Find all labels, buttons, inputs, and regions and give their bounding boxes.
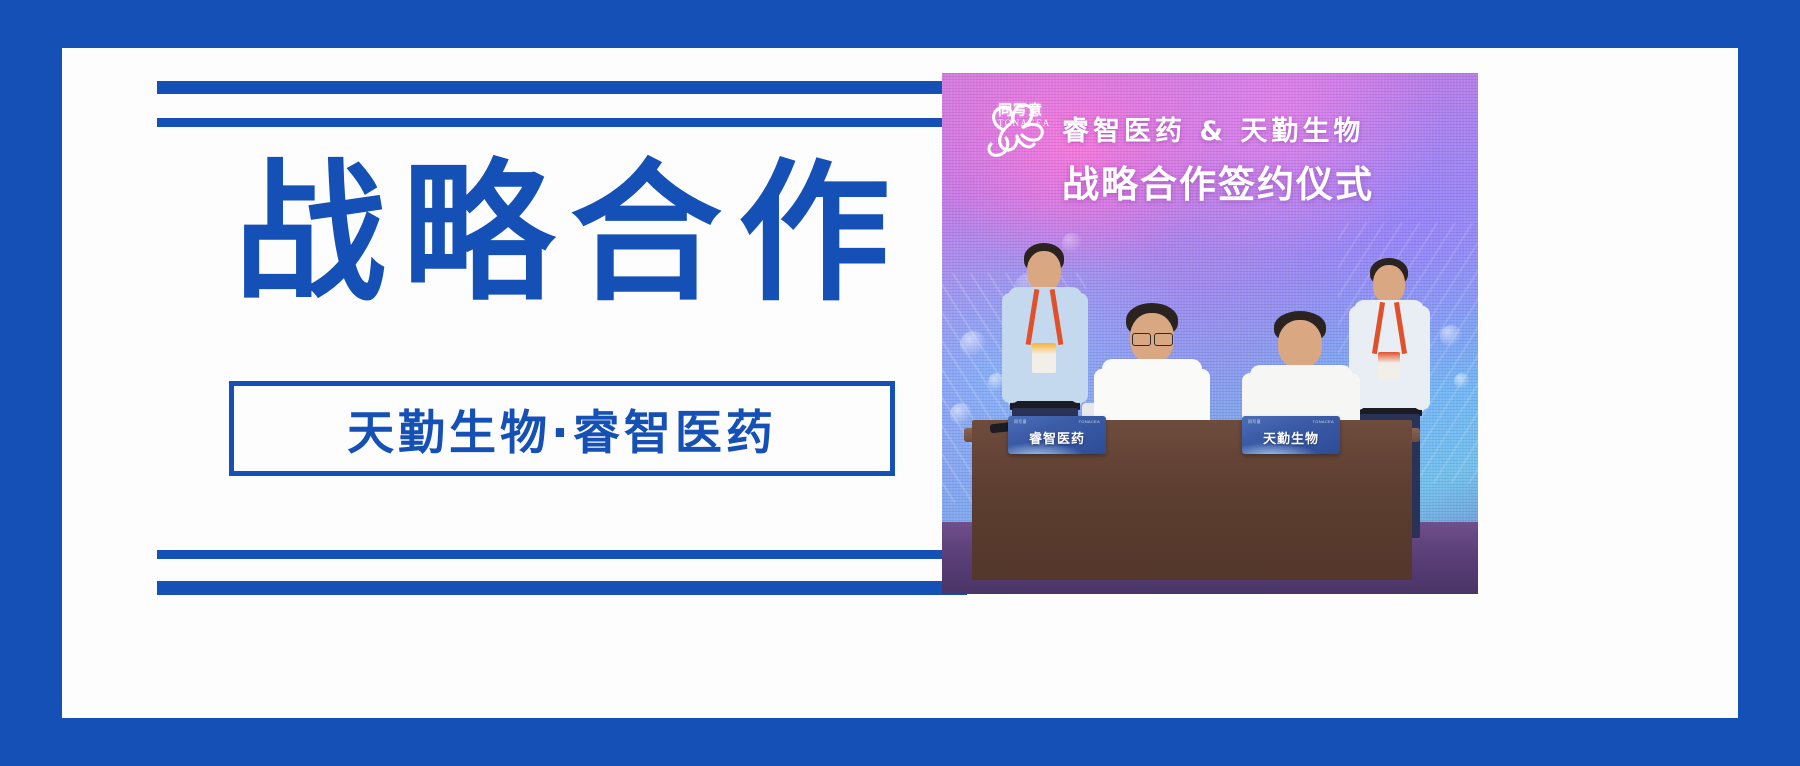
nameplate-mini-right: TONACEA bbox=[1313, 419, 1334, 424]
nameplate-mini-right: TONACEA bbox=[1079, 419, 1100, 424]
page-title: 战略合作 bbox=[157, 158, 967, 310]
left-text-column: 战略合作 天勤生物·睿智医药 bbox=[157, 48, 967, 718]
banner-line-2: 战略合作签约仪式 bbox=[1062, 154, 1478, 208]
banner-line-1: 睿智医药 & 天勤生物 bbox=[1062, 109, 1478, 148]
nameplate-mini-left: 同写意 bbox=[1014, 419, 1027, 425]
event-photo: 同写意 TONACEA 睿智医药 & 天勤生物 战略合作签约仪式 bbox=[942, 73, 1478, 594]
logo-english-name: TONACEA bbox=[998, 118, 1051, 128]
nameplate-mini-left: 同写意 bbox=[1248, 419, 1261, 425]
logo-chinese-name: 同写意 bbox=[998, 100, 1043, 120]
head bbox=[1027, 251, 1061, 291]
rule-bottom-thick bbox=[157, 581, 967, 595]
name-badge bbox=[1378, 352, 1400, 380]
bokeh-dot bbox=[960, 331, 986, 357]
poster-root: 战略合作 天勤生物·睿智医药 bbox=[0, 0, 1800, 766]
nameplate-label: 天勤生物 bbox=[1242, 428, 1340, 447]
nameplate-right: 同写意 TONACEA 天勤生物 bbox=[1242, 416, 1340, 454]
subtitle-box: 天勤生物·睿智医药 bbox=[229, 381, 895, 476]
nameplate-left: 同写意 TONACEA 睿智医药 bbox=[1008, 416, 1106, 454]
head bbox=[1373, 265, 1405, 303]
nameplate-label: 睿智医药 bbox=[1008, 428, 1106, 447]
led-banner-text: 睿智医药 & 天勤生物 战略合作签约仪式 bbox=[1062, 109, 1478, 208]
bokeh-dot bbox=[950, 403, 972, 425]
head bbox=[1278, 320, 1322, 368]
eyeglasses bbox=[1154, 333, 1173, 346]
poster-card: 战略合作 天勤生物·睿智医药 bbox=[62, 48, 1738, 718]
arm-right bbox=[1070, 293, 1088, 403]
subtitle-text: 天勤生物·睿智医药 bbox=[347, 394, 777, 463]
bokeh-dot bbox=[1440, 325, 1462, 347]
rule-top-thin bbox=[157, 118, 967, 127]
rule-top-thick bbox=[157, 81, 967, 94]
arm-left bbox=[1002, 293, 1020, 403]
rule-bottom-thin bbox=[157, 550, 967, 559]
name-badge bbox=[1032, 343, 1056, 373]
arm-right bbox=[1413, 306, 1430, 410]
eyeglasses bbox=[1132, 333, 1151, 346]
bokeh-dot bbox=[1454, 373, 1470, 389]
